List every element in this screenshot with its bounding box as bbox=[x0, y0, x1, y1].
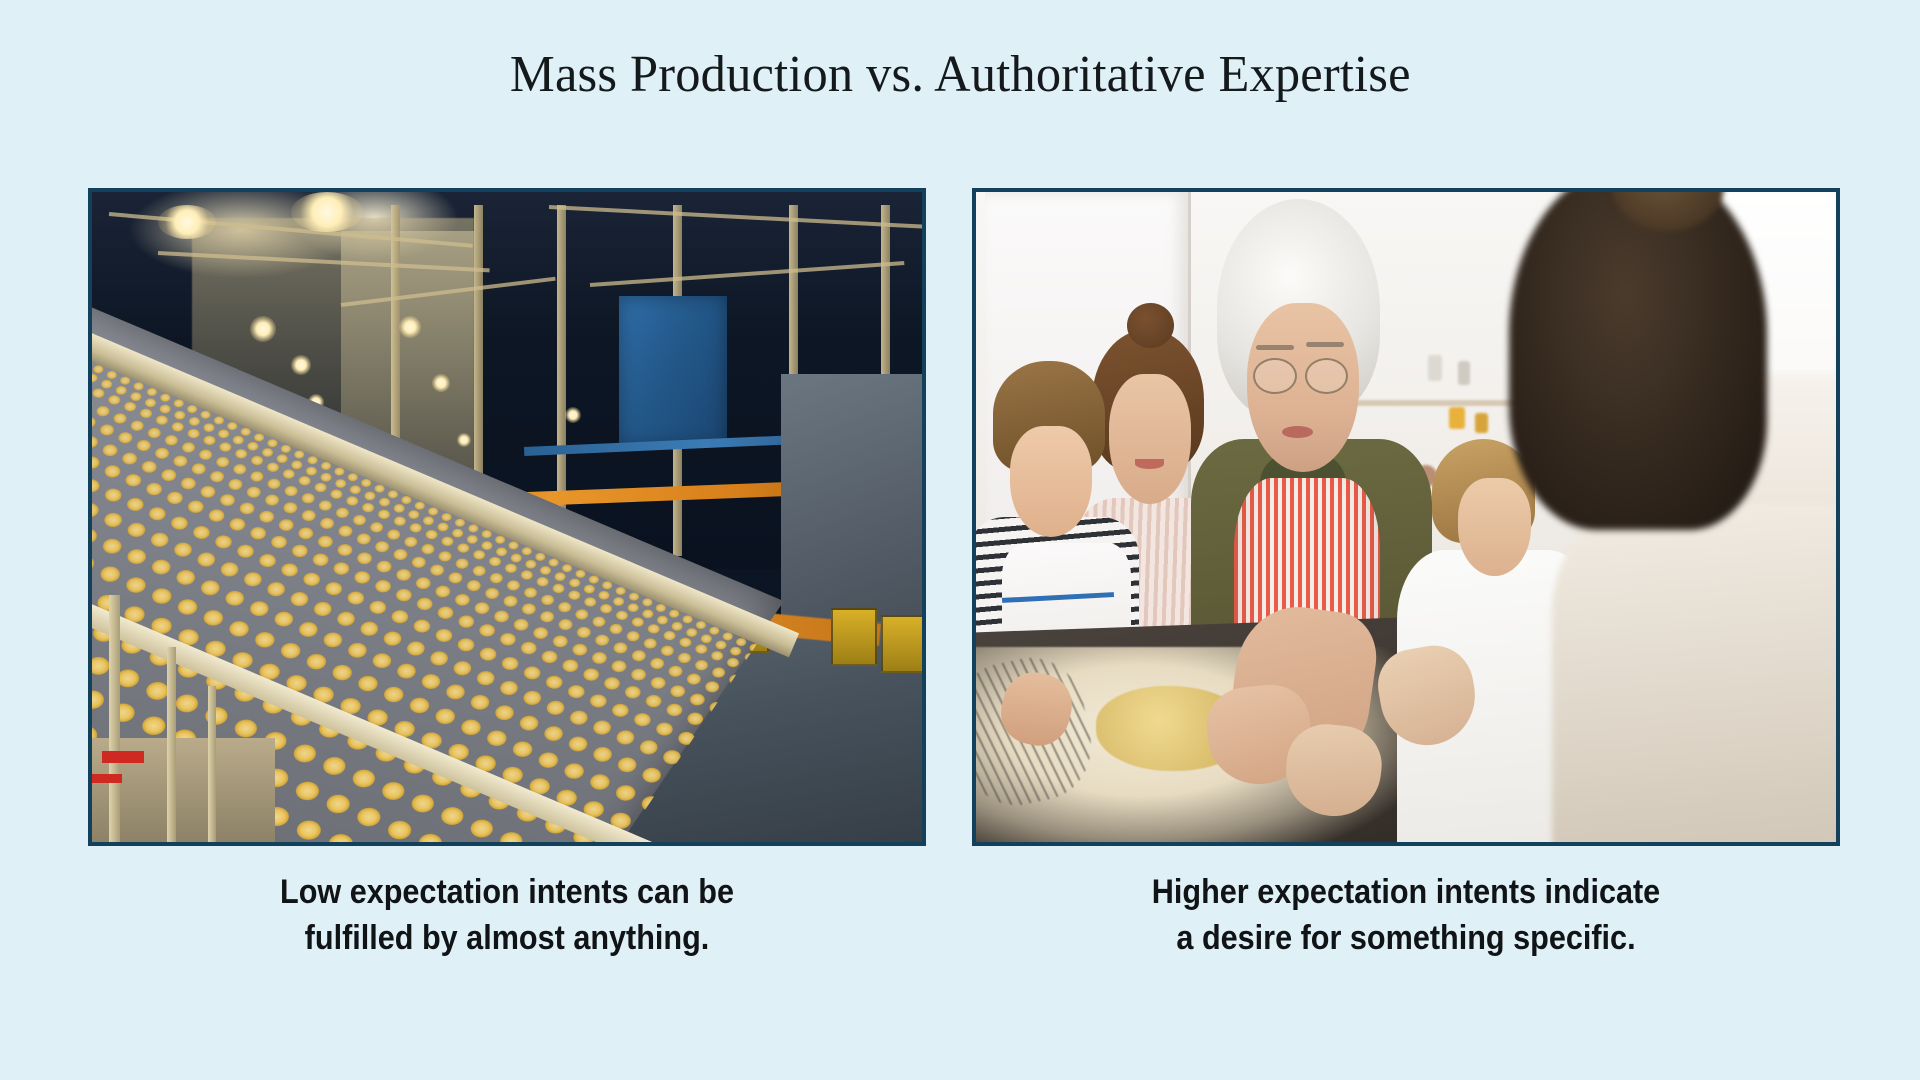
factory-ceiling-lamp bbox=[291, 355, 311, 375]
captions-row: Low expectation intents can be fulfilled… bbox=[0, 870, 1920, 1080]
caption-line-2: a desire for something specific. bbox=[1015, 916, 1796, 962]
mother-face bbox=[1109, 374, 1191, 504]
factory-ceiling-lamp bbox=[565, 407, 581, 423]
kitchen-jar bbox=[1449, 407, 1465, 429]
title-bar: Mass Production vs. Authoritative Expert… bbox=[0, 0, 1920, 150]
factory-support-leg bbox=[167, 647, 176, 842]
grandmother-eyeglasses bbox=[1305, 358, 1349, 394]
factory-cookie-conveyor-photo bbox=[92, 192, 922, 842]
factory-ceiling-lamp bbox=[291, 192, 363, 232]
caption-line-1: Low expectation intents can be bbox=[130, 870, 884, 916]
factory-support-leg bbox=[109, 595, 120, 842]
caption-authoritative-expertise: Higher expectation intents indicate a de… bbox=[1015, 870, 1796, 962]
factory-floor-marking bbox=[92, 774, 122, 783]
kitchen-jar bbox=[1458, 361, 1470, 385]
mother-hair-bun bbox=[1127, 303, 1174, 349]
caption-mass-production: Low expectation intents can be fulfilled… bbox=[130, 870, 884, 962]
panel-authoritative-expertise bbox=[972, 188, 1840, 846]
factory-ceiling-lamp bbox=[399, 316, 421, 338]
boy-right-face bbox=[1458, 478, 1531, 576]
caption-line-1: Higher expectation intents indicate bbox=[1015, 870, 1796, 916]
panel-mass-production bbox=[88, 188, 926, 846]
foreground-woman-hair bbox=[1509, 192, 1767, 530]
boy-face bbox=[1010, 426, 1092, 537]
kitchen-jar bbox=[1475, 413, 1488, 433]
factory-ceiling-lamp bbox=[457, 433, 471, 447]
factory-support-leg bbox=[208, 686, 216, 842]
factory-blue-machine bbox=[619, 296, 727, 446]
page-title: Mass Production vs. Authoritative Expert… bbox=[510, 49, 1411, 101]
grandmother-eyebrow bbox=[1306, 342, 1344, 347]
family-baking-together-photo bbox=[976, 192, 1836, 842]
caption-line-2: fulfilled by almost anything. bbox=[130, 916, 884, 962]
grandmother-mouth bbox=[1282, 426, 1313, 438]
kitchen-jar bbox=[1428, 355, 1442, 381]
factory-ceiling-lamp bbox=[158, 205, 216, 239]
comparison-panels bbox=[0, 188, 1920, 848]
mother-smile bbox=[1135, 459, 1164, 469]
factory-ceiling-lamp bbox=[250, 316, 276, 342]
factory-oven-door bbox=[831, 608, 877, 666]
grandmother-eyeglasses bbox=[1253, 358, 1297, 394]
foreground-woman-body bbox=[1552, 504, 1836, 842]
grandmother-eyebrow bbox=[1256, 345, 1294, 350]
factory-floor-marking bbox=[102, 751, 144, 763]
factory-oven-door bbox=[881, 615, 923, 673]
